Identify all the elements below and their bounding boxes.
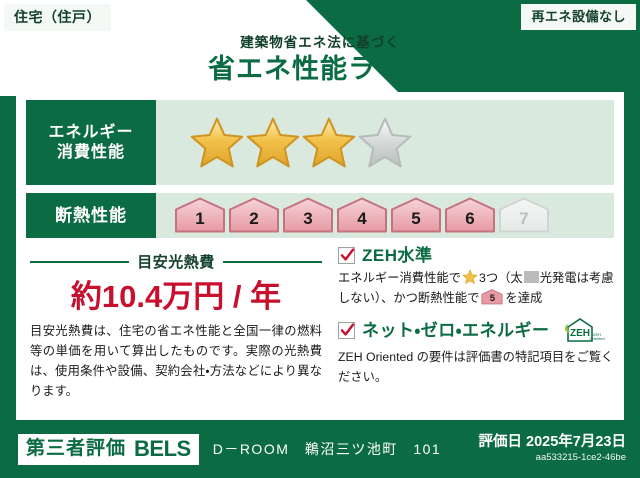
label-body-card: エネルギー 消費性能 断熱性能 1234567 目安光熱費 約10.4万: [16, 92, 624, 420]
star-filled-icon: [302, 116, 356, 170]
zeh-body-text-4: を達成: [505, 291, 542, 305]
inline-star-icon: [462, 269, 478, 285]
insulation-level-6: 6: [444, 197, 496, 234]
insulation-performance-value: 1234567: [156, 193, 614, 238]
inline-house-number: 5: [481, 289, 503, 305]
property-name: D－ROOM 鵜沼三ツ池町 101: [213, 439, 442, 459]
insulation-level-5: 5: [390, 197, 442, 234]
zeh-column: ZEH水準 エネルギー消費性能で3つ（太光発電は考慮しない）、かつ断熱性能で5を…: [326, 247, 614, 417]
utility-cost-heading-text: 目安光熱費: [137, 251, 215, 272]
energy-performance-row: エネルギー 消費性能: [26, 100, 614, 185]
star-rating: [190, 116, 412, 170]
redacted-block: [524, 271, 539, 283]
net-zero-checkbox: [338, 322, 355, 339]
svg-text:ZEH: ZEH: [570, 328, 590, 339]
net-zero-check: ネット・ゼロ・エネルギー ZEH ZEH Oriented: [338, 317, 614, 343]
heading-rule-right: [223, 261, 322, 263]
zeh-body-text-1: エネルギー消費性能で: [338, 271, 461, 285]
insulation-level-number: 5: [390, 197, 442, 234]
insulation-level-number: 7: [498, 197, 550, 234]
evaluation-info: 評価日 2025年7月23日 aa533215-1ce2-46be: [479, 435, 626, 464]
zeh-oriented-badge: ZEH ZEH Oriented: [561, 317, 605, 343]
heading-rule-left: [30, 261, 129, 263]
lower-section: 目安光熱費 約10.4万円 / 年 目安光熱費は、住宅の省エネ性能と全国一律の燃…: [26, 247, 614, 417]
insulation-level-4: 4: [336, 197, 388, 234]
bels-japanese-text: 第三者評価: [26, 439, 126, 458]
energy-label-line2: 消費性能: [57, 143, 125, 163]
evaluation-id: aa533215-1ce2-46be: [479, 452, 626, 463]
energy-performance-value: [156, 100, 614, 185]
zeh-level-check: ZEH水準: [338, 247, 614, 264]
page-title: 省エネ性能ラベル: [0, 56, 640, 83]
insulation-level-number: 1: [174, 197, 226, 234]
insulation-level-number: 2: [228, 197, 280, 234]
bels-logo: 第三者評価 BELS: [18, 434, 199, 465]
star-filled-icon: [246, 116, 300, 170]
insulation-level-number: 6: [444, 197, 496, 234]
label-footer: 第三者評価 BELS D－ROOM 鵜沼三ツ池町 101 評価日 2025年7月…: [0, 420, 640, 478]
insulation-performance-label: 断熱性能: [26, 193, 156, 238]
evaluation-date: 評価日 2025年7月23日: [479, 435, 626, 451]
zeh-level-checkbox: [338, 247, 355, 264]
zeh-level-body: エネルギー消費性能で3つ（太光発電は考慮しない）、かつ断熱性能で5を達成: [338, 269, 614, 308]
zeh-level-title: ZEH水準: [362, 247, 433, 264]
star-filled-icon: [190, 116, 244, 170]
insulation-level-1: 1: [174, 197, 226, 234]
utility-cost-note: 目安光熱費は、住宅の省エネ性能と全国一律の燃料等の単価を用いて算出したものです。…: [30, 322, 322, 402]
insulation-level-7: 7: [498, 197, 550, 234]
building-type-tag: 住宅（住戸）: [4, 4, 111, 31]
insulation-level-3: 3: [282, 197, 334, 234]
check-icon: [340, 248, 355, 263]
insulation-scale: 1234567: [174, 197, 550, 234]
net-zero-title: ネット・ゼロ・エネルギー: [362, 322, 550, 339]
insulation-level-number: 3: [282, 197, 334, 234]
energy-label-line1: エネルギー: [48, 123, 133, 143]
insulation-level-2: 2: [228, 197, 280, 234]
svg-text:Oriented: Oriented: [589, 336, 604, 341]
utility-cost-column: 目安光熱費 約10.4万円 / 年 目安光熱費は、住宅の省エネ性能と全国一律の燃…: [26, 247, 326, 417]
energy-performance-label: 建築物省エネ法に基づく 省エネ性能ラベル 住宅（住戸） 再エネ設備なし エネルギ…: [0, 0, 640, 478]
star-empty-icon: [358, 116, 412, 170]
insulation-level-number: 4: [336, 197, 388, 234]
check-icon: [340, 323, 355, 338]
header-subtitle: 建築物省エネ法に基づく: [0, 36, 640, 50]
zeh-body-text-2: 3つ（太: [479, 271, 523, 285]
bels-english-text: BELS: [134, 438, 191, 460]
inline-house-badge: 5: [481, 289, 503, 305]
renewable-equipment-tag: 再エネ設備なし: [521, 4, 636, 30]
utility-cost-amount: 約10.4万円 / 年: [30, 281, 322, 312]
insulation-performance-row: 断熱性能 1234567: [26, 193, 614, 238]
zeh-badge-icon: ZEH ZEH Oriented: [561, 317, 605, 343]
energy-performance-label: エネルギー 消費性能: [26, 100, 156, 185]
net-zero-body: ZEH Oriented の要件は評価書の特記項目をご覧ください。: [338, 348, 614, 387]
label-header: 建築物省エネ法に基づく 省エネ性能ラベル: [0, 36, 640, 83]
utility-cost-heading: 目安光熱費: [30, 251, 322, 272]
